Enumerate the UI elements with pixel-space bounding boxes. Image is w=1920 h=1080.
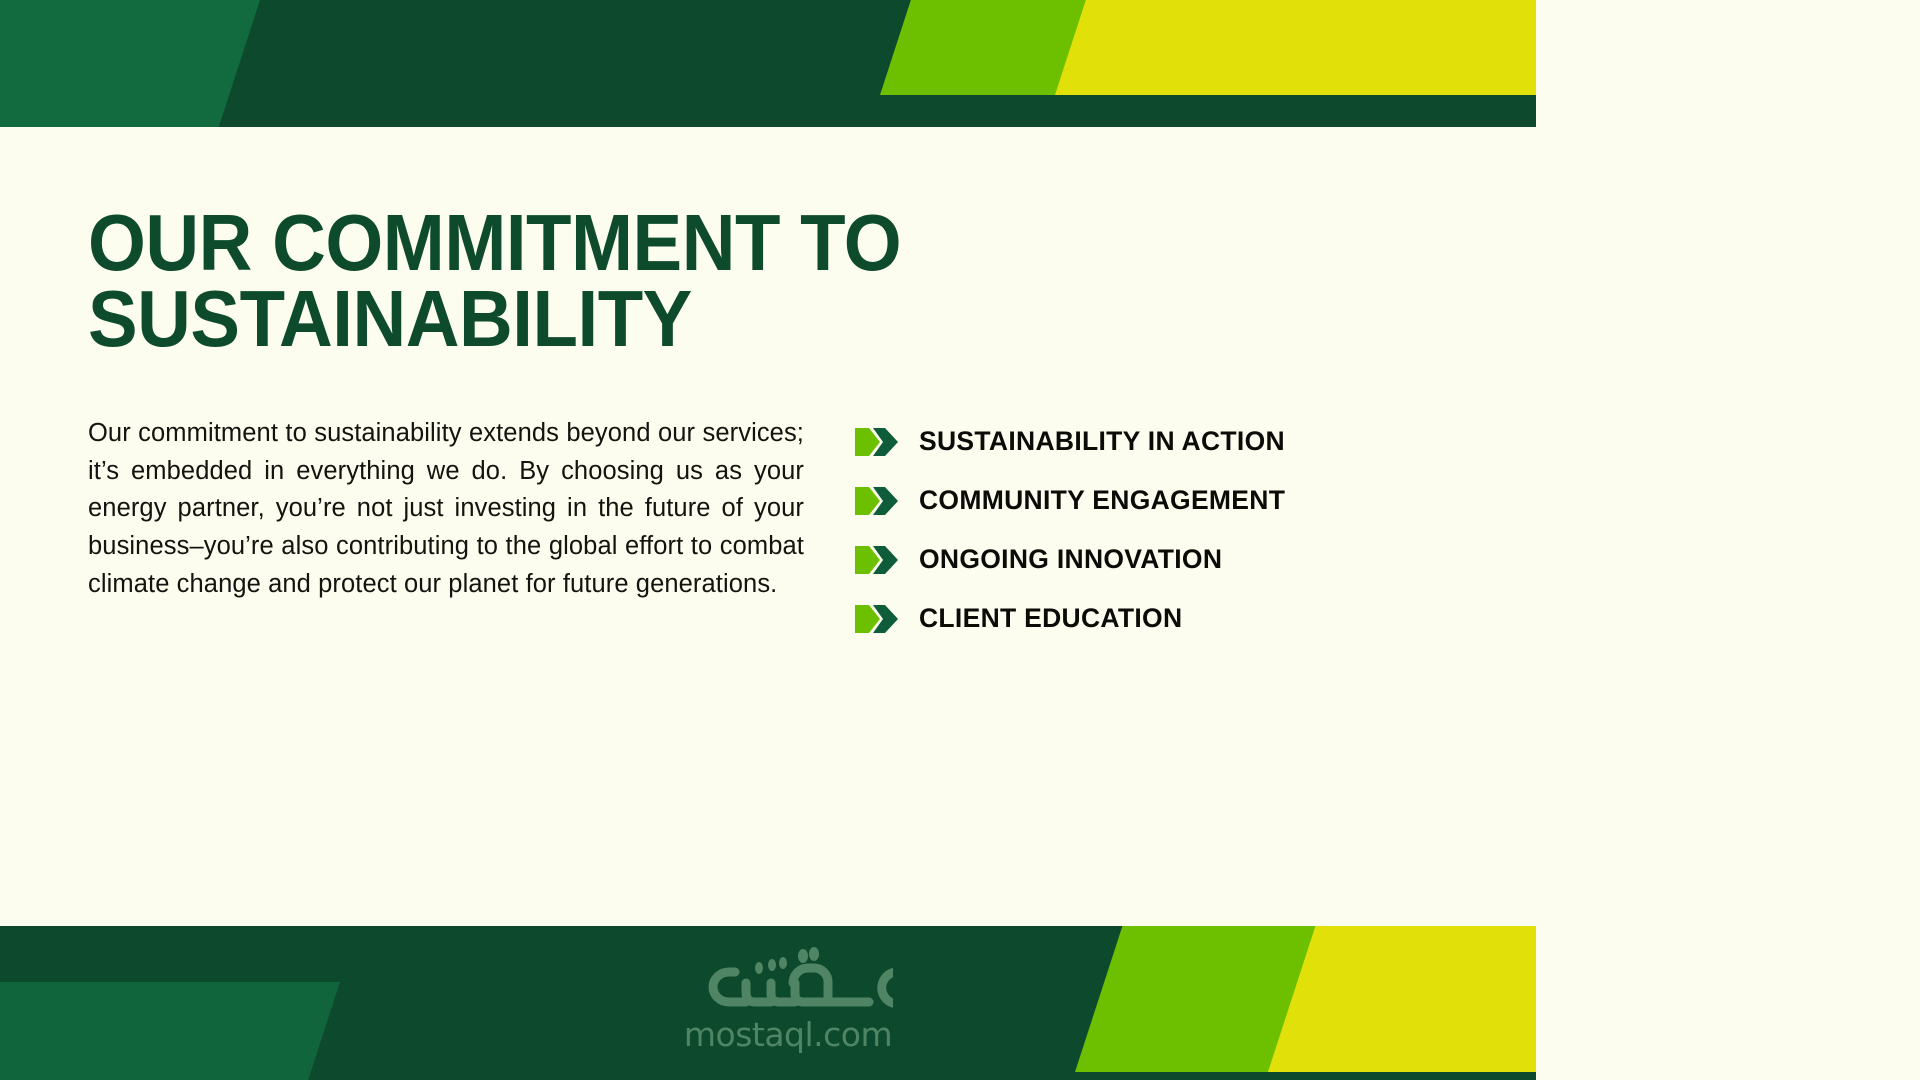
slide-canvas: OUR COMMITMENT TO SUSTAINABILITY Our com…	[0, 0, 1536, 1080]
list-item-label: CLIENT EDUCATION	[919, 603, 1182, 634]
footer-yellow-diagonal-shape	[1268, 926, 1536, 1072]
mostaql-arabic-logo-icon	[683, 942, 893, 1016]
body-paragraph: Our commitment to sustainability extends…	[88, 415, 804, 604]
footer-left-green-parallelogram	[0, 982, 340, 1080]
top-left-green-parallelogram	[0, 0, 260, 127]
double-chevron-right-icon	[855, 604, 899, 634]
list-item[interactable]: ONGOING INNOVATION	[855, 530, 1455, 589]
list-item[interactable]: CLIENT EDUCATION	[855, 589, 1455, 648]
list-item-label: SUSTAINABILITY IN ACTION	[919, 426, 1285, 457]
list-item-label: COMMUNITY ENGAGEMENT	[919, 485, 1285, 516]
double-chevron-right-icon	[855, 545, 899, 575]
double-chevron-right-icon	[855, 427, 899, 457]
top-decorative-band	[0, 0, 1536, 127]
top-yellow-diagonal-shape	[1055, 0, 1536, 95]
highlights-list: SUSTAINABILITY IN ACTION COMMUNITY ENGAG…	[855, 412, 1455, 648]
list-item[interactable]: SUSTAINABILITY IN ACTION	[855, 412, 1455, 471]
body-paragraph-column: Our commitment to sustainability extends…	[88, 415, 804, 604]
page-title: OUR COMMITMENT TO SUSTAINABILITY	[88, 205, 1065, 357]
double-chevron-right-icon	[855, 486, 899, 516]
footer-decorative-band: mostaql.com	[0, 926, 1536, 1080]
mostaql-domain-text: mostaql.com	[684, 1018, 892, 1051]
list-item-label: ONGOING INNOVATION	[919, 544, 1222, 575]
list-item[interactable]: COMMUNITY ENGAGEMENT	[855, 471, 1455, 530]
main-content-area: OUR COMMITMENT TO SUSTAINABILITY Our com…	[0, 127, 1536, 926]
mostaql-watermark: mostaql.com	[683, 942, 893, 1064]
